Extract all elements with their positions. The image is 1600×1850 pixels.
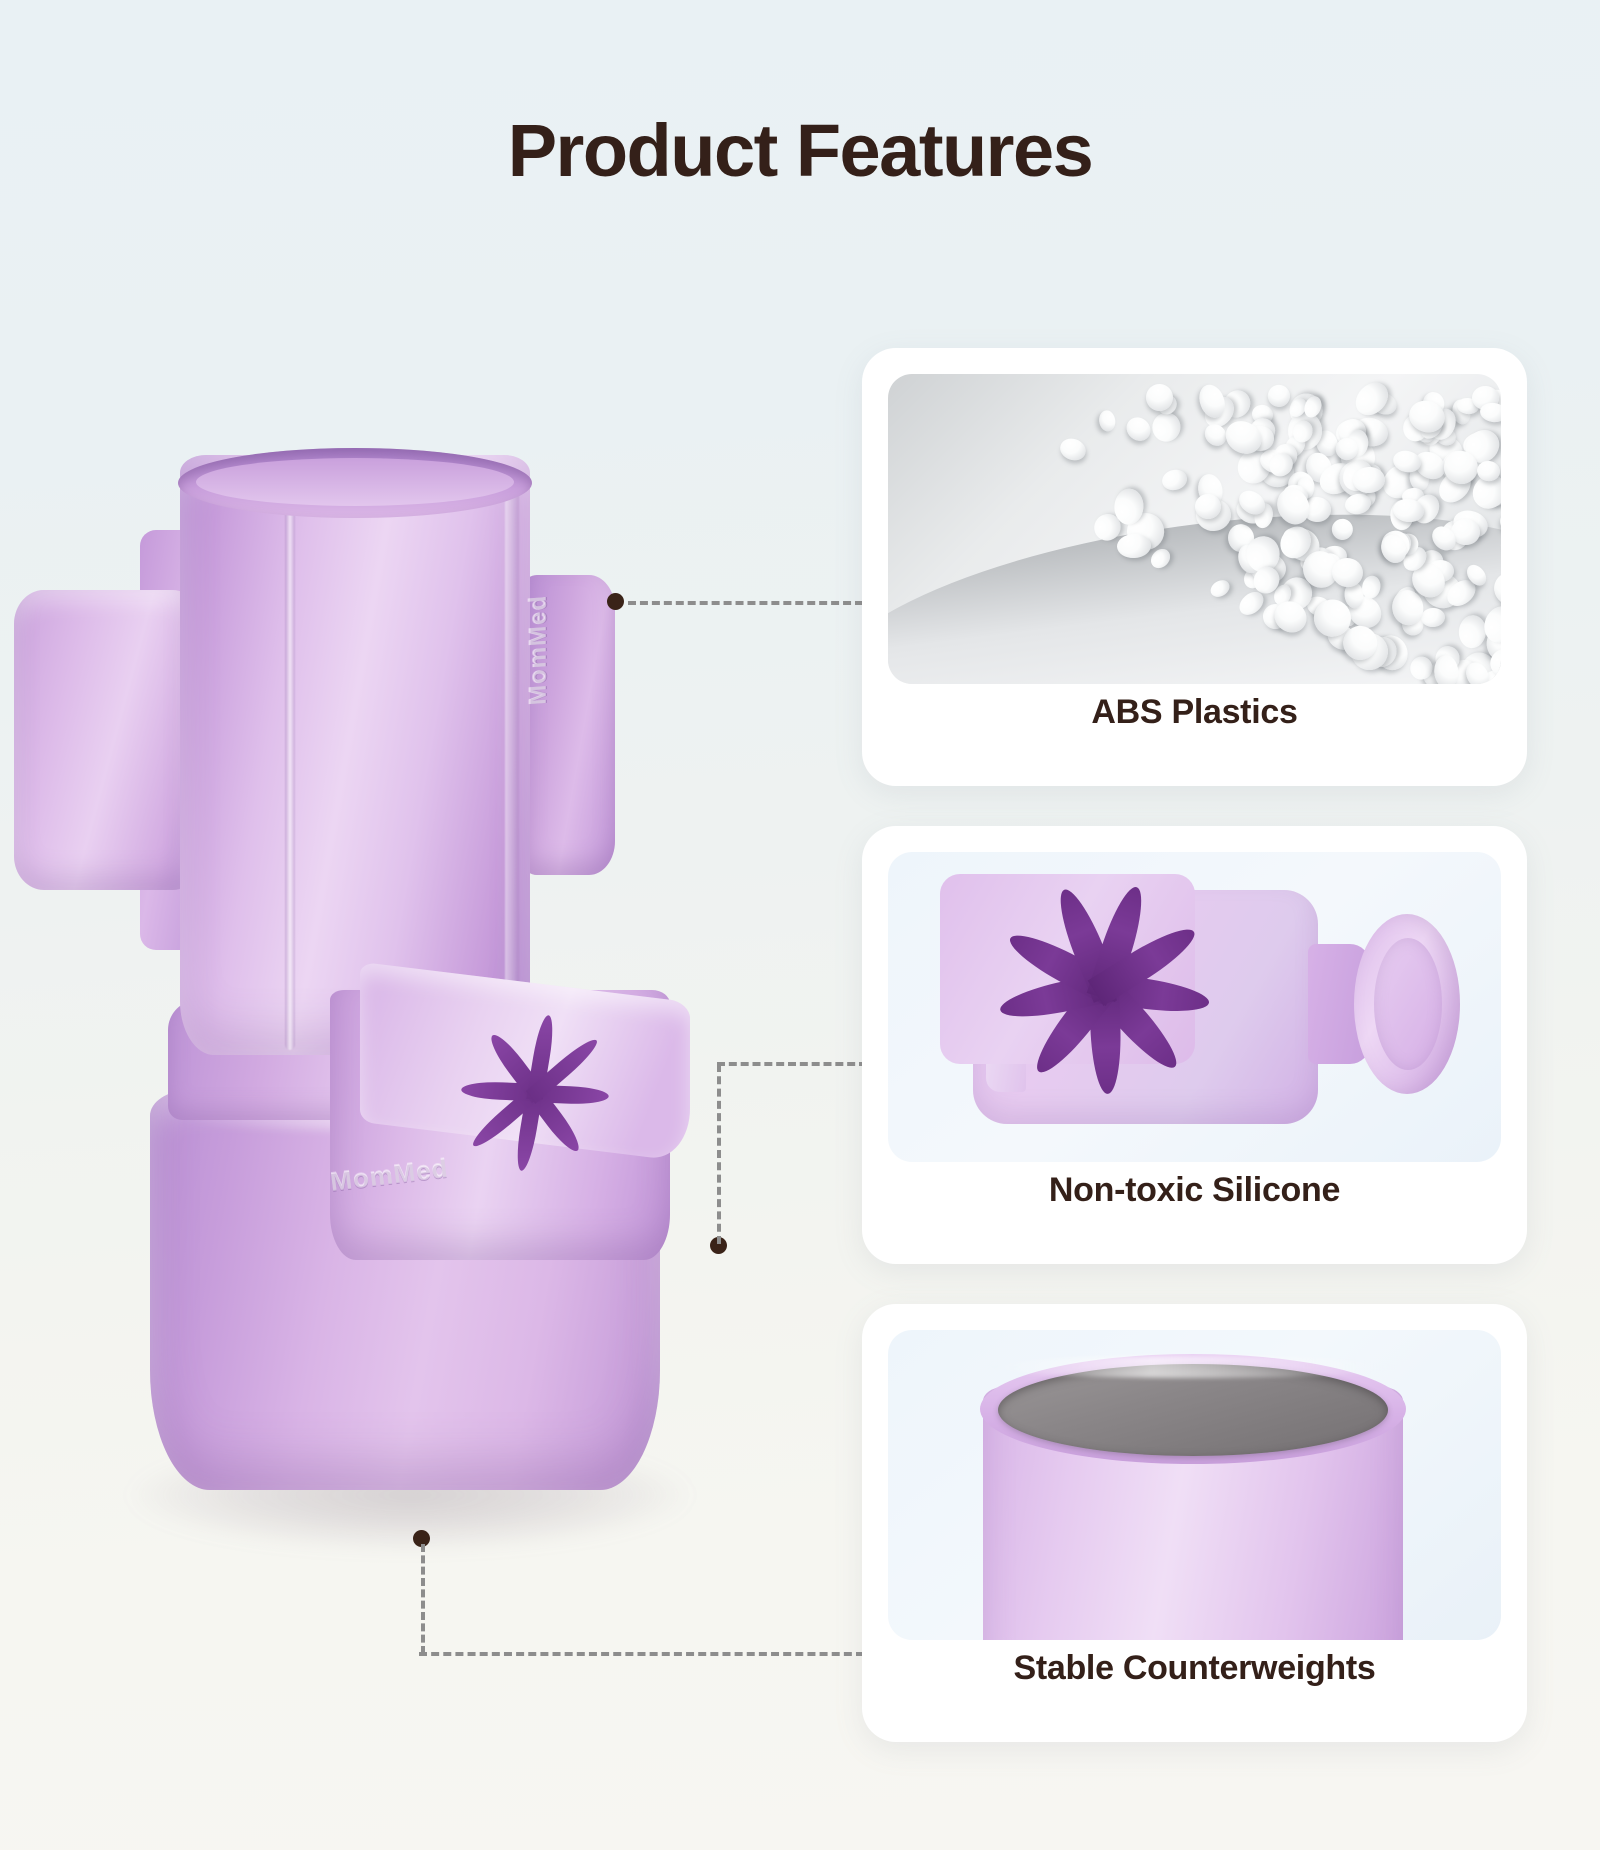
feature-label-stable-counterweights: Stable Counterweights <box>862 1649 1527 1688</box>
plastic-pellet <box>1457 614 1487 649</box>
product-bottle-rim-inner <box>196 458 514 506</box>
plastic-pellet <box>1349 377 1394 422</box>
plastic-pellets-photo <box>888 374 1501 684</box>
plastic-pellet <box>1207 577 1232 600</box>
plastic-pellet <box>1479 401 1501 424</box>
plastic-pellet <box>1495 525 1501 563</box>
plastic-pellet <box>1122 413 1155 446</box>
product-right-wing <box>525 575 615 875</box>
plastic-pellet <box>1116 533 1151 559</box>
product-motor-box <box>14 590 189 890</box>
feature-label-abs-plastics: ABS Plastics <box>862 693 1527 732</box>
product-bottle <box>180 455 530 1055</box>
connector-dot-abs-plastics <box>607 593 624 610</box>
plastic-pellet <box>1420 608 1445 628</box>
plastic-pellet <box>1495 509 1501 541</box>
product-bottle-seam-right <box>505 470 519 1040</box>
plastic-pellet <box>1160 468 1189 493</box>
connector-line-silicone-horizontal <box>717 1062 867 1066</box>
counterweight-base-photo <box>888 1330 1501 1640</box>
feature-image-non-toxic-silicone <box>888 852 1501 1162</box>
feature-image-abs-plastics <box>888 374 1501 684</box>
plastic-pellet <box>1147 545 1174 572</box>
plastic-pellet <box>1098 410 1116 433</box>
connector-line-counterweights-vertical <box>421 1544 425 1654</box>
connector-line-silicone-vertical <box>717 1064 721 1244</box>
plastic-pellet <box>1150 410 1183 444</box>
counterweight-rim-highlight <box>988 1356 1398 1378</box>
connector-line-abs-plastics <box>628 601 863 605</box>
feature-card-stable-counterweights[interactable]: Stable Counterweights <box>862 1304 1527 1742</box>
feature-card-non-toxic-silicone[interactable]: Non-toxic Silicone <box>862 826 1527 1264</box>
plastic-pellet <box>1058 435 1089 463</box>
feature-label-non-toxic-silicone: Non-toxic Silicone <box>862 1171 1527 1210</box>
product-image: MomMed MomMed <box>0 400 760 1650</box>
feature-card-abs-plastics[interactable]: ABS Plastics <box>862 348 1527 786</box>
plastic-pellet <box>1328 515 1357 544</box>
silicone-cap-inner <box>1374 938 1442 1070</box>
product-features-page: Product Features MomMed MomMed ABS Plast… <box>0 0 1600 1850</box>
feature-image-stable-counterweights <box>888 1330 1501 1640</box>
connector-line-counterweights-horizontal <box>419 1652 864 1656</box>
page-title: Product Features <box>0 112 1600 190</box>
plastic-pellet <box>1490 568 1501 611</box>
product-bottle-seam <box>285 460 295 1050</box>
silicone-flange-photo <box>888 852 1501 1162</box>
